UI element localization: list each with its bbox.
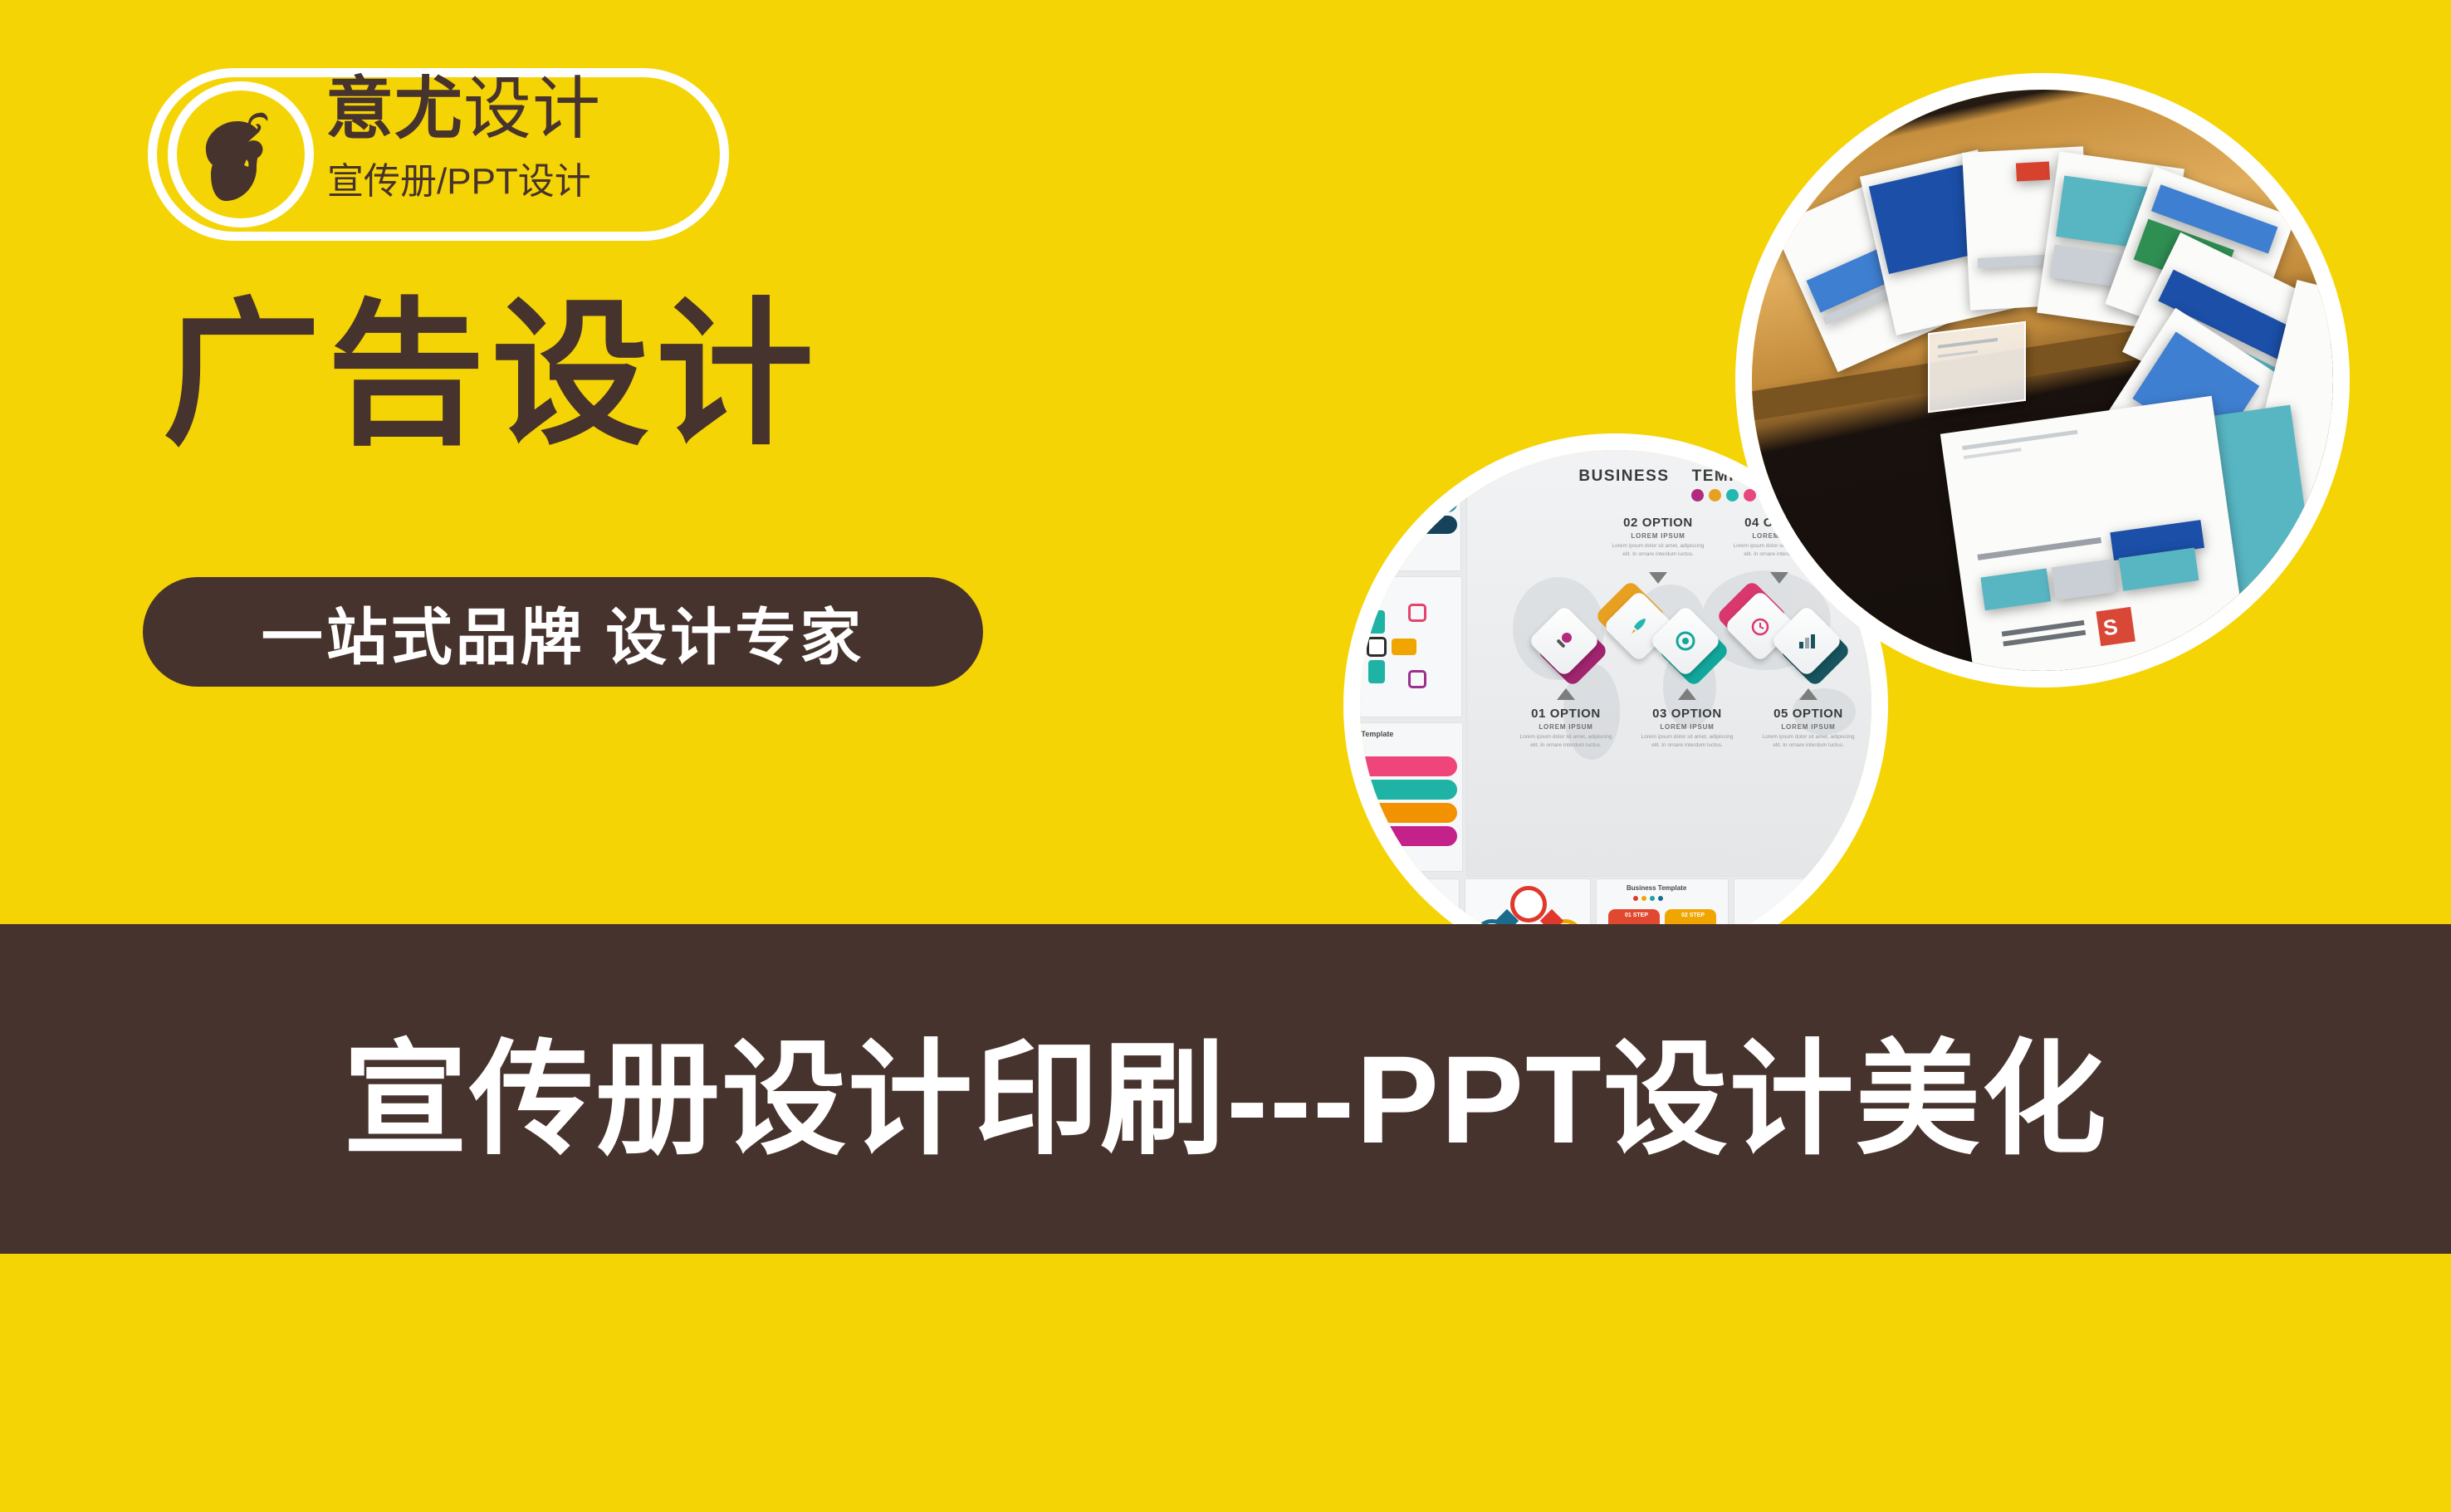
ppt-option-label: 03 OPTION xyxy=(1637,707,1737,721)
logo-subtitle: 宣传册/PPT设计 xyxy=(327,159,591,204)
main-banner: 宣传册设计印刷---PPT设计美化 xyxy=(0,924,2451,1254)
ppt-diamond-01 xyxy=(1528,604,1601,678)
ppt-option-label: 02 OPTION xyxy=(1608,516,1708,530)
leaf-bird-mark-icon xyxy=(186,98,297,209)
ppt-title-left: BUSINESS xyxy=(1578,467,1669,485)
magnifier-icon xyxy=(1539,615,1590,667)
ppt-option-sub: LOREM IPSUM xyxy=(1759,723,1858,731)
ppt-option-sub: LOREM IPSUM xyxy=(1637,723,1737,731)
ppt-option-body: Lorem ipsum dolor sit amet, adipiscing e… xyxy=(1608,542,1708,559)
ppt-option-label: 05 OPTION xyxy=(1759,707,1858,721)
logo-text-block: 意尤设计 宣传册/PPT设计 xyxy=(325,75,716,234)
list-item xyxy=(1343,576,1462,717)
ppt-option-body: Lorem ipsum dolor sit amet, adipiscing e… xyxy=(1759,733,1858,750)
list-item xyxy=(1343,438,1461,571)
ppt-option-sub: LOREM IPSUM xyxy=(1516,723,1616,731)
brochure-photo: S xyxy=(1735,73,2350,687)
ppt-option-body: Lorem ipsum dolor sit amet, adipiscing e… xyxy=(1637,733,1737,750)
tagline-badge: 一站式品牌 设计专家 xyxy=(143,577,983,687)
logo-title: 意尤设计 xyxy=(325,70,601,149)
page-title: 广告设计 xyxy=(163,292,820,458)
brand-logo: 意尤设计 宣传册/PPT设计 xyxy=(148,68,729,241)
ppt-option-body: Lorem ipsum dolor sit amet, adipiscing e… xyxy=(1516,733,1616,750)
triangle-up-icon xyxy=(1678,688,1696,700)
triangle-up-icon xyxy=(1799,688,1817,700)
list-item: Business Template xyxy=(1343,722,1463,872)
ppt-diamond-03 xyxy=(1649,604,1722,678)
featured-brochure: S xyxy=(1940,396,2253,687)
ppt-option-sub: LOREM IPSUM xyxy=(1608,532,1708,540)
tagline-badge-text: 一站式品牌 设计专家 xyxy=(262,588,865,677)
footer-bar: 创新宣传册设计 图形式PPT设计 xyxy=(0,1254,2451,1512)
logo-brand-bold: 意尤 xyxy=(325,71,463,147)
triangle-down-icon xyxy=(1649,572,1667,584)
main-banner-text: 宣传册设计印刷---PPT设计美化 xyxy=(343,999,2108,1179)
triangle-up-icon xyxy=(1557,688,1575,700)
card-holder xyxy=(1928,321,2026,413)
logo-brand-thin: 设计 xyxy=(463,71,601,147)
ppt-option-label: 01 OPTION xyxy=(1516,707,1616,721)
target-icon xyxy=(1660,615,1711,667)
brochure-scene: S xyxy=(1752,90,2333,671)
